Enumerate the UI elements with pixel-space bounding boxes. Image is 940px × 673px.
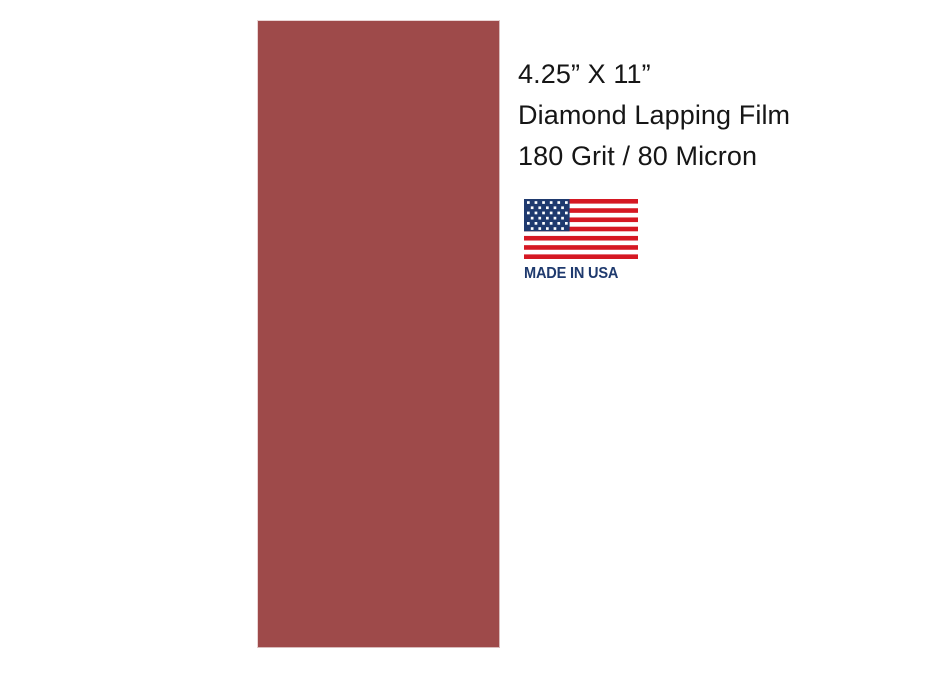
product-film-sheet bbox=[257, 20, 500, 648]
made-in-usa-badge: MADE IN USA bbox=[524, 199, 638, 283]
made-in-usa-label: MADE IN USA bbox=[524, 265, 631, 283]
spec-line-grit: 180 Grit / 80 Micron bbox=[518, 136, 918, 177]
product-spec-text: 4.25” X 11” Diamond Lapping Film 180 Gri… bbox=[518, 54, 918, 177]
product-image-canvas: 4.25” X 11” Diamond Lapping Film 180 Gri… bbox=[0, 0, 940, 673]
spec-line-product-name: Diamond Lapping Film bbox=[518, 95, 918, 136]
us-flag-icon bbox=[524, 199, 638, 259]
spec-line-dimensions: 4.25” X 11” bbox=[518, 54, 918, 95]
flag-canton bbox=[524, 199, 570, 231]
